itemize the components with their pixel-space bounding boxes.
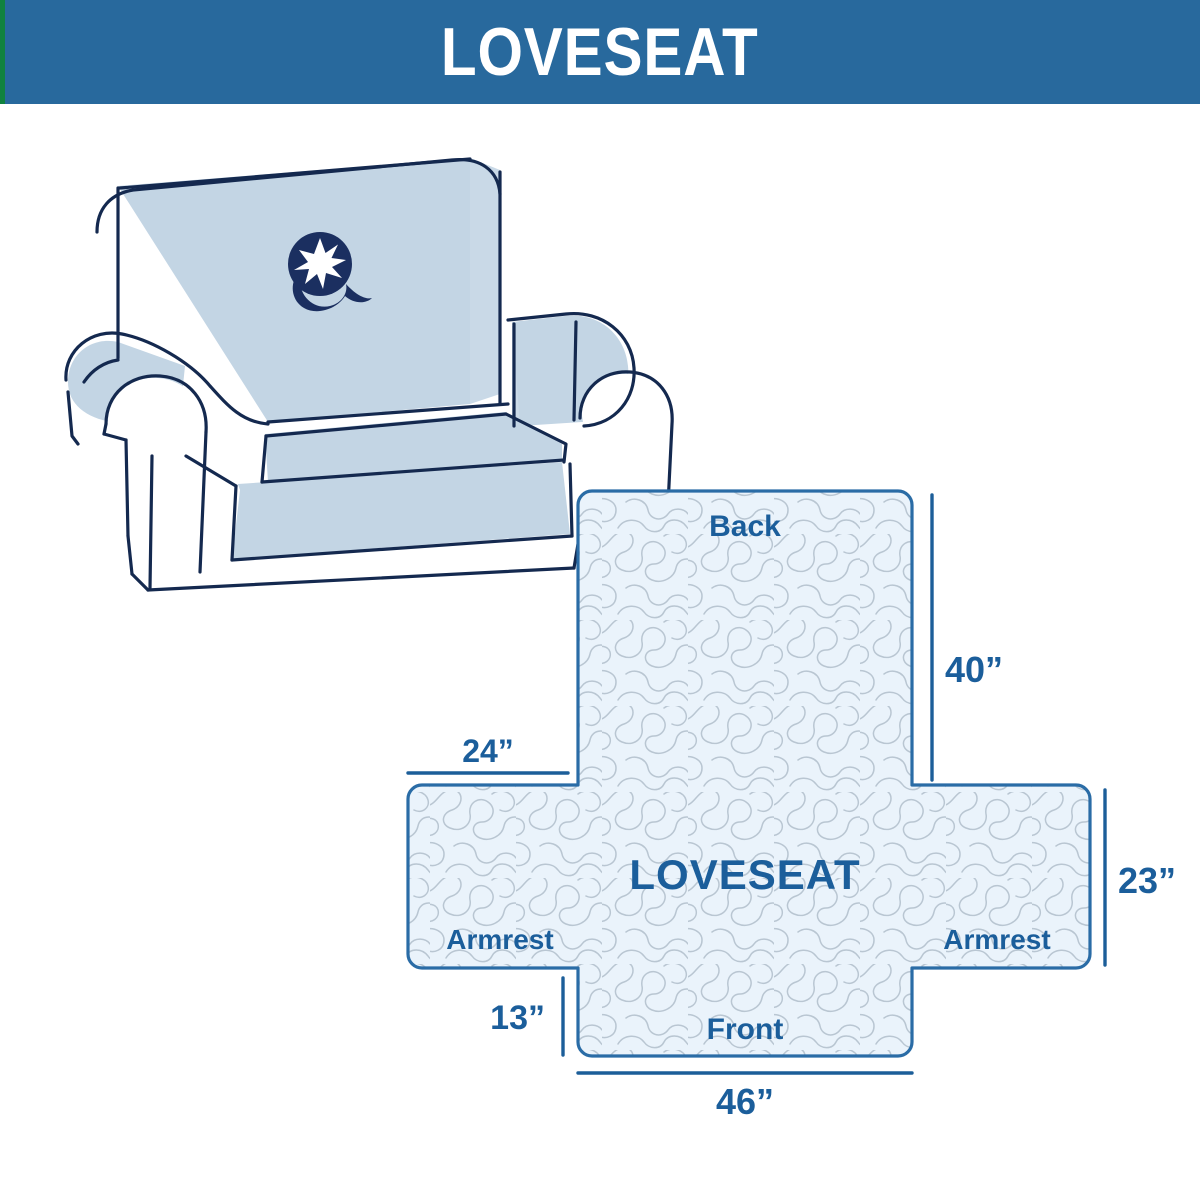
dimension-value-back-height: 40”: [945, 649, 1003, 690]
dimension-value-back-inset: 24”: [462, 733, 514, 769]
artwork-stage: Back LOVESEAT Armrest Armrest Front 40” …: [0, 104, 1200, 1200]
panel-label-armrest-right: Armrest: [943, 924, 1050, 955]
page-title: LOVESEAT: [441, 0, 759, 104]
dimension-value-center-height: 23”: [1118, 860, 1176, 901]
header-accent-bar: [0, 0, 5, 104]
cover-cross-diagram: Back LOVESEAT Armrest Armrest Front 40” …: [0, 104, 1200, 1200]
panel-label-center: LOVESEAT: [629, 851, 860, 898]
dimension-value-front-height: 13”: [490, 999, 545, 1037]
panel-label-front: Front: [707, 1013, 784, 1046]
dimension-value-front-width: 46”: [716, 1081, 774, 1122]
header-banner: LOVESEAT: [0, 0, 1200, 104]
panel-label-armrest-left: Armrest: [446, 924, 553, 955]
panel-label-back: Back: [709, 510, 781, 543]
